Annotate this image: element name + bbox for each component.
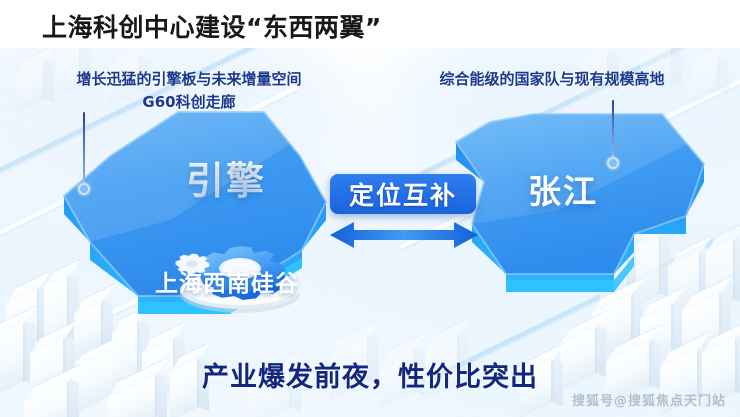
annotation-left-line1: 增长迅猛的引擎板与未来增量空间 [76, 70, 301, 88]
watermark: 搜狐号@搜狐焦点天门站 [572, 390, 726, 409]
leader-stem [612, 100, 614, 158]
center-relation-group: 定位互补 [330, 174, 476, 250]
double-headed-arrow-icon [328, 220, 480, 250]
annotation-left: 增长迅猛的引擎板与未来增量空间 G60科创走廊 [24, 68, 354, 113]
annotation-right: 综合能级的国家队与现有规模高地 [392, 68, 712, 91]
relation-badge: 定位互补 [330, 174, 476, 214]
page-title: 上海科创中心建设“东西两翼” [42, 8, 382, 44]
island-left-title: 引擎 [186, 150, 266, 205]
annotation-right-line1: 综合能级的国家队与现有规模高地 [439, 70, 664, 88]
leader-dot [607, 157, 619, 169]
relation-badge-label: 定位互补 [349, 176, 457, 212]
island-left-subtitle: 上海西南硅谷 [155, 264, 299, 298]
title-band: 上海科创中心建设“东西两翼” [0, 0, 740, 48]
poster-root: 上海科创中心建设“东西两翼” 增长迅猛的引擎板与未来增量空间 G60科创走廊 综… [0, 0, 740, 417]
leader-line-left [78, 112, 90, 184]
annotation-left-line2: G60科创走廊 [24, 91, 354, 114]
tagline: 产业爆发前夜，性价比突出 [0, 355, 740, 394]
island-right-title: 张江 [528, 165, 598, 213]
leader-dot [78, 183, 90, 195]
leader-line-right [607, 100, 619, 158]
leader-stem [83, 112, 85, 184]
